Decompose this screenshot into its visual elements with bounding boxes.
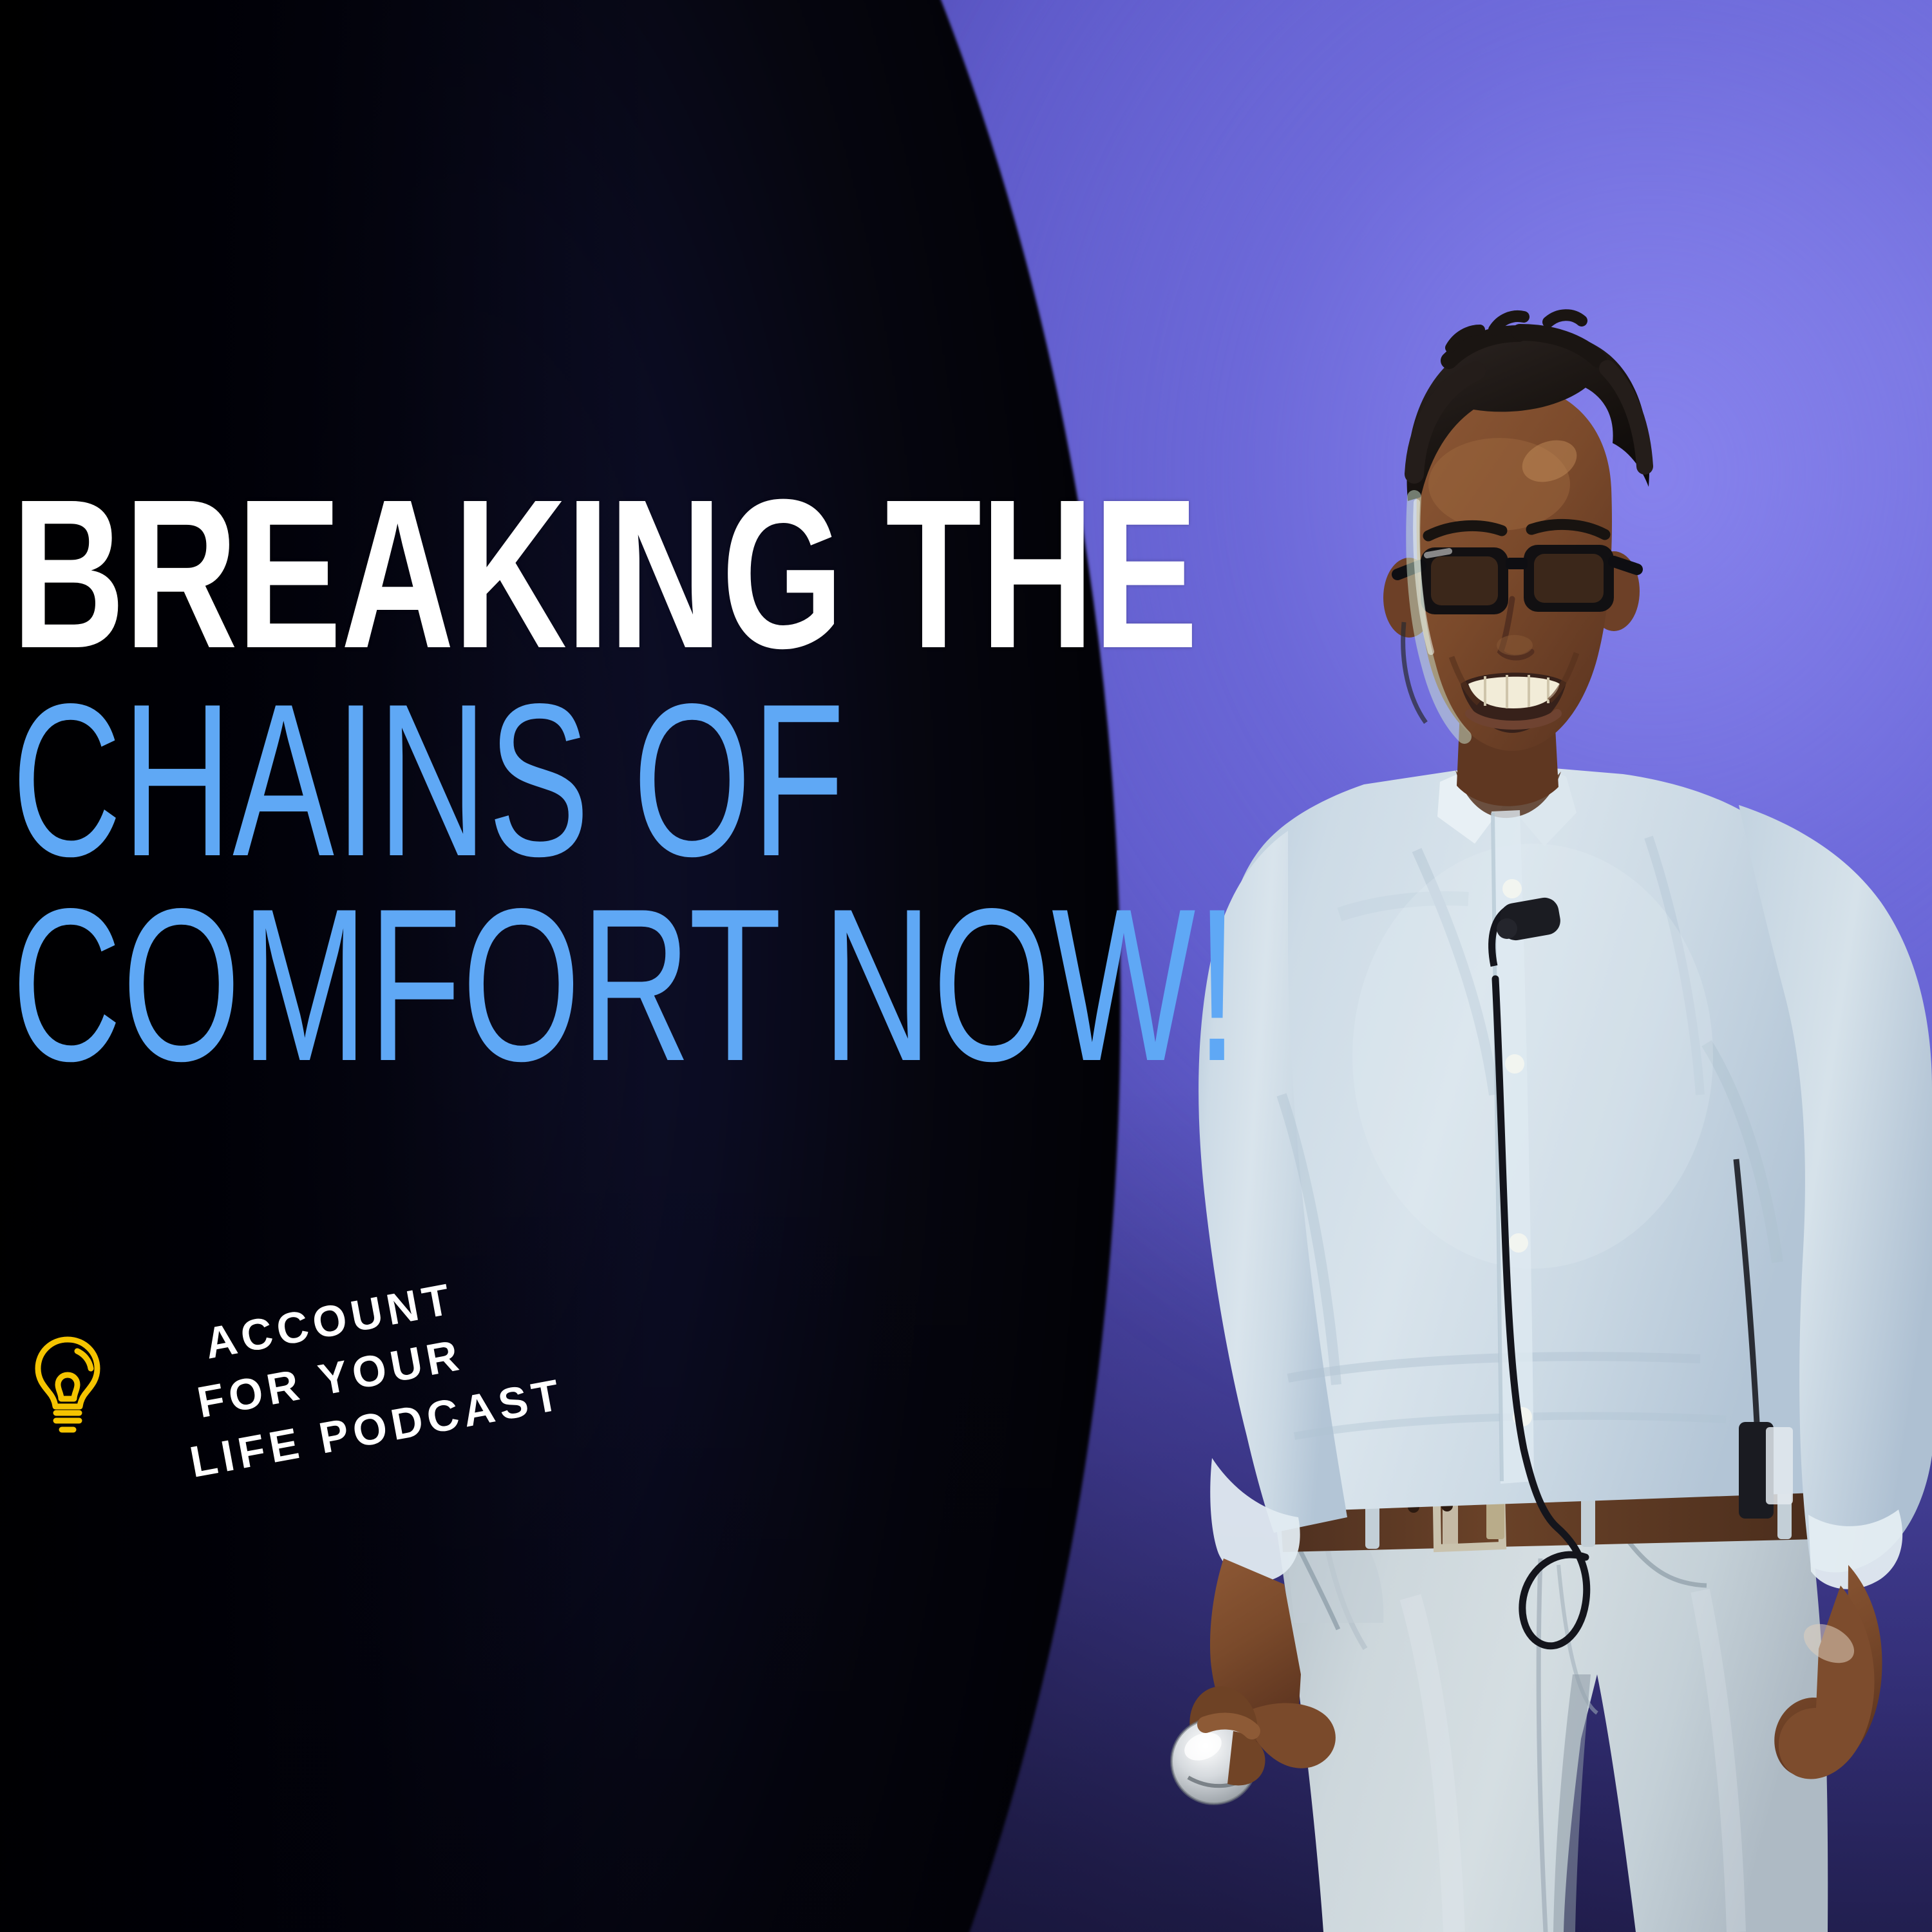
podcast-logo: ACCOUNT FOR YOUR LIFE PODCAST	[30, 1327, 560, 1492]
title-line-1: BREAKING THE	[12, 478, 1309, 669]
title-line-3: COMFORT NOW!	[12, 887, 1238, 1083]
podcast-cover-art: BREAKING THE CHAINS OF COMFORT NOW! ACCO…	[0, 0, 1932, 1932]
lightbulb-icon	[30, 1334, 106, 1437]
title-line-2: CHAINS OF	[12, 682, 1238, 878]
episode-title: BREAKING THE CHAINS OF COMFORT NOW!	[12, 478, 1765, 1083]
jeans	[1275, 1520, 1828, 1932]
